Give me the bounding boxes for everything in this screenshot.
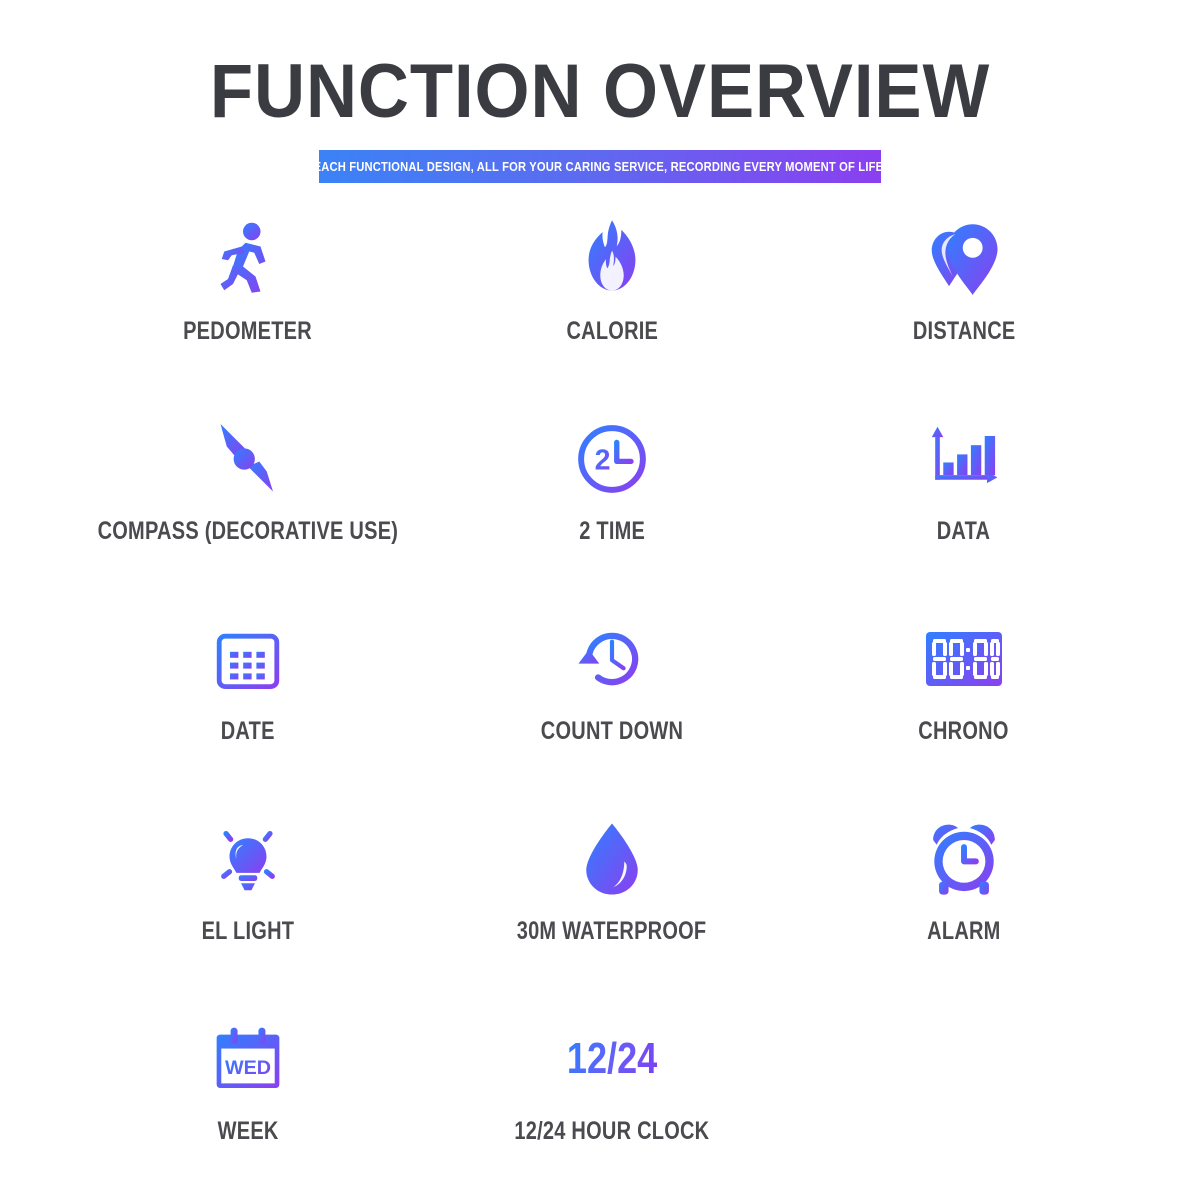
compass-needle-icon: [210, 407, 286, 511]
feature-label: DATE: [221, 717, 275, 746]
hour-clock-text: 12/24: [567, 1037, 657, 1081]
feature-label: 30M WATERPROOF: [517, 917, 707, 946]
page-header: FUNCTION OVERVIEW EACH FUNCTIONAL DESIGN…: [0, 0, 1200, 183]
bar-chart-icon: [926, 407, 1002, 511]
water-droplet-icon: [581, 807, 643, 911]
feature-label: DISTANCE: [913, 317, 1016, 346]
digital-display-icon: [925, 607, 1003, 711]
feature-label: CALORIE: [566, 317, 658, 346]
feature-label: DATA: [937, 517, 991, 546]
feature-item-count-down[interactable]: COUNT DOWN: [436, 607, 788, 807]
feature-item-el-light[interactable]: EL LIGHT: [60, 807, 436, 1007]
feature-item-chrono[interactable]: CHRONO: [788, 607, 1140, 807]
feature-item-2-time[interactable]: 2 2 TIME: [436, 407, 788, 607]
feature-item-date[interactable]: DATE: [60, 607, 436, 807]
feature-item-alarm[interactable]: ALARM: [788, 807, 1140, 1007]
flame-icon: [575, 207, 649, 311]
feature-item-week[interactable]: WED WEEK: [60, 1007, 436, 1200]
alarm-clock-icon: [926, 807, 1002, 911]
calendar-weekday-icon: WED: [212, 1007, 284, 1111]
week-day-text: WED: [225, 1057, 271, 1079]
page-title: FUNCTION OVERVIEW: [42, 52, 1158, 132]
light-bulb-icon: [211, 807, 285, 911]
feature-grid: PEDOMETER CALORIE: [0, 207, 1200, 1200]
feature-label: COMPASS (DECORATIVE USE): [98, 517, 399, 546]
twelve-twentyfour-text-icon: 12/24: [557, 1007, 667, 1111]
feature-item-compass[interactable]: COMPASS (DECORATIVE USE): [60, 407, 436, 607]
feature-label: COUNT DOWN: [541, 717, 683, 746]
feature-label: 2 TIME: [579, 517, 645, 546]
dual-time-clock-icon: 2: [574, 407, 650, 511]
running-person-icon: [208, 207, 288, 311]
clock-back-arrow-icon: [575, 607, 649, 711]
feature-label: WEEK: [217, 1117, 278, 1146]
feature-item-data[interactable]: DATA: [788, 407, 1140, 607]
feature-item-waterproof[interactable]: 30M WATERPROOF: [436, 807, 788, 1007]
calendar-grid-icon: [212, 607, 284, 711]
map-pins-icon: [928, 207, 1000, 311]
feature-label: PEDOMETER: [183, 317, 312, 346]
feature-label: 12/24 HOUR CLOCK: [514, 1117, 709, 1146]
feature-label: EL LIGHT: [202, 917, 295, 946]
subtitle-banner: EACH FUNCTIONAL DESIGN, ALL FOR YOUR CAR…: [319, 150, 881, 183]
feature-item-distance[interactable]: DISTANCE: [788, 207, 1140, 407]
feature-label: CHRONO: [919, 717, 1009, 746]
feature-item-hour-clock[interactable]: 12/24 12/24 HOUR CLOCK: [436, 1007, 788, 1200]
subtitle-text: EACH FUNCTIONAL DESIGN, ALL FOR YOUR CAR…: [314, 159, 887, 174]
feature-item-calorie[interactable]: CALORIE: [436, 207, 788, 407]
svg-text:2: 2: [594, 444, 610, 476]
function-overview-page: FUNCTION OVERVIEW EACH FUNCTIONAL DESIGN…: [0, 0, 1200, 1200]
feature-item-pedometer[interactable]: PEDOMETER: [60, 207, 436, 407]
feature-label: ALARM: [927, 917, 1000, 946]
